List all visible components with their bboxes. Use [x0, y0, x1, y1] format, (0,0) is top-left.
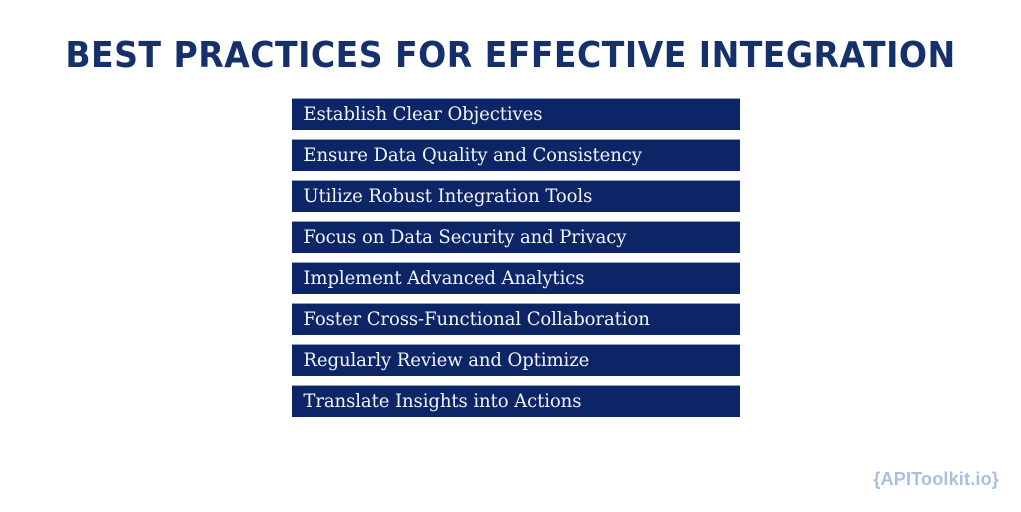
- list-item: Ensure Data Quality and Consistency: [292, 139, 740, 171]
- list-item-label: Focus on Data Security and Privacy: [292, 228, 626, 247]
- best-practices-list: Establish Clear Objectives Ensure Data Q…: [292, 98, 740, 417]
- list-item-label: Implement Advanced Analytics: [292, 269, 584, 288]
- list-item: Utilize Robust Integration Tools: [292, 180, 740, 212]
- list-item: Foster Cross-Functional Collaboration: [292, 303, 740, 335]
- list-item-label: Ensure Data Quality and Consistency: [292, 146, 642, 165]
- slide-canvas: Best Practices for Effective Integration…: [0, 0, 1021, 512]
- list-item-label: Translate Insights into Actions: [292, 392, 581, 411]
- list-item: Translate Insights into Actions: [292, 385, 740, 417]
- list-item: Implement Advanced Analytics: [292, 262, 740, 294]
- list-item: Establish Clear Objectives: [292, 98, 740, 130]
- list-item-label: Regularly Review and Optimize: [292, 351, 589, 370]
- list-item: Focus on Data Security and Privacy: [292, 221, 740, 253]
- list-item: Regularly Review and Optimize: [292, 344, 740, 376]
- page-title: Best Practices for Effective Integration: [41, 38, 980, 74]
- list-item-label: Foster Cross-Functional Collaboration: [292, 310, 650, 329]
- list-item-label: Establish Clear Objectives: [292, 105, 542, 124]
- list-item-label: Utilize Robust Integration Tools: [292, 187, 592, 206]
- watermark-brand: {APIToolkit.io}: [873, 469, 999, 490]
